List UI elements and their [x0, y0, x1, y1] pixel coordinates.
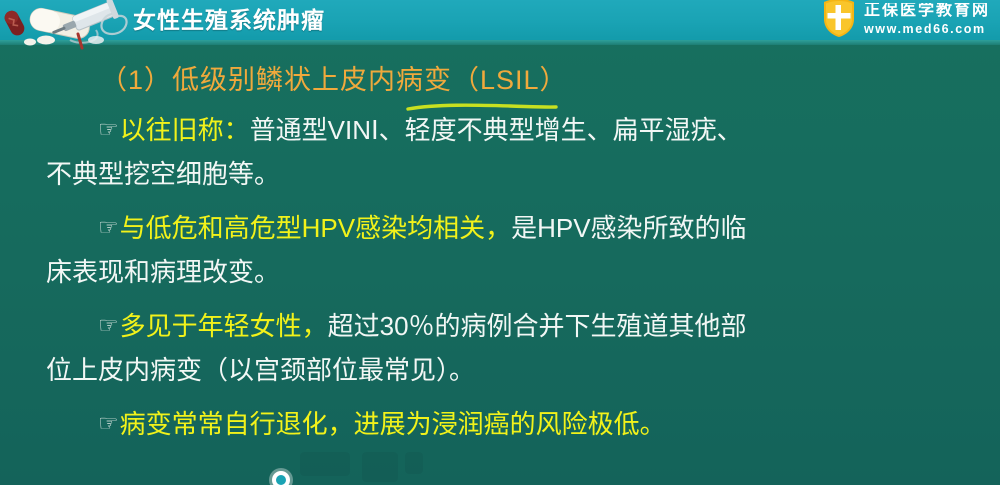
cross-shield-icon [821, 0, 857, 38]
background-artifact [405, 452, 423, 474]
brand-logo-text: 正保医学教育网 www.med66.com [864, 1, 990, 36]
pointing-hand-icon: ☞ [98, 413, 119, 436]
bullet-1-line-1: ☞以往旧称：普通型VINⅠ、轻度不典型增生、扁平湿疣、 [98, 113, 743, 147]
bullet-2-body: 是HPV感染所致的临 [511, 213, 746, 243]
bullet-3-line-2: 位上皮内病变（以宫颈部位最常见）。 [46, 353, 475, 387]
pointing-hand-icon: ☞ [98, 217, 119, 240]
bullet-4-emphasis: 病变常常自行退化，进展为浸润癌的风险极低。 [120, 409, 666, 439]
bullet-3-emphasis: 多见于年轻女性， [120, 311, 328, 341]
bullet-2-line-2: 床表现和病理改变。 [46, 255, 280, 289]
bullet-1-emphasis: 以往旧称： [120, 115, 250, 145]
brand-logo[interactable]: 正保医学教育网 www.med66.com [821, 0, 990, 40]
bullet-4-line-1: ☞病变常常自行退化，进展为浸润癌的风险极低。 [98, 407, 666, 441]
brand-url: www.med66.com [864, 23, 990, 36]
medical-illustration-icon [0, 0, 128, 50]
background-artifact [362, 452, 398, 482]
bullet-2-line-1: ☞与低危和高危型HPV感染均相关，是HPV感染所致的临 [98, 211, 747, 245]
bullet-1-body: 普通型VINⅠ、轻度不典型增生、扁平湿疣、 [250, 115, 743, 145]
pointing-hand-icon: ☞ [98, 315, 119, 338]
circle-cursor-icon[interactable] [272, 471, 290, 485]
bullet-1-line-2: 不典型挖空细胞等。 [46, 157, 280, 191]
background-artifact [300, 452, 350, 476]
bullet-3-line-1: ☞多见于年轻女性，超过30％的病例合并下生殖道其他部 [98, 309, 747, 343]
lsil-underline-stroke [406, 100, 554, 109]
bullet-3-body: 超过30％的病例合并下生殖道其他部 [328, 311, 747, 341]
pointing-hand-icon: ☞ [98, 119, 119, 142]
slide-content: （1）低级别鳞状上皮内病变（LSIL） ☞以往旧称：普通型VINⅠ、轻度不典型增… [0, 45, 1000, 485]
slide-root: 女性生殖系统肿瘤 正保医学教育网 www.med66.com （1）低级别鳞状上… [0, 0, 1000, 485]
page-title: 女性生殖系统肿瘤 [133, 4, 325, 36]
bullet-2-emphasis: 与低危和高危型HPV感染均相关， [120, 213, 511, 243]
slide-headline: （1）低级别鳞状上皮内病变（LSIL） [100, 63, 568, 97]
brand-name-cn: 正保医学教育网 [864, 3, 990, 20]
